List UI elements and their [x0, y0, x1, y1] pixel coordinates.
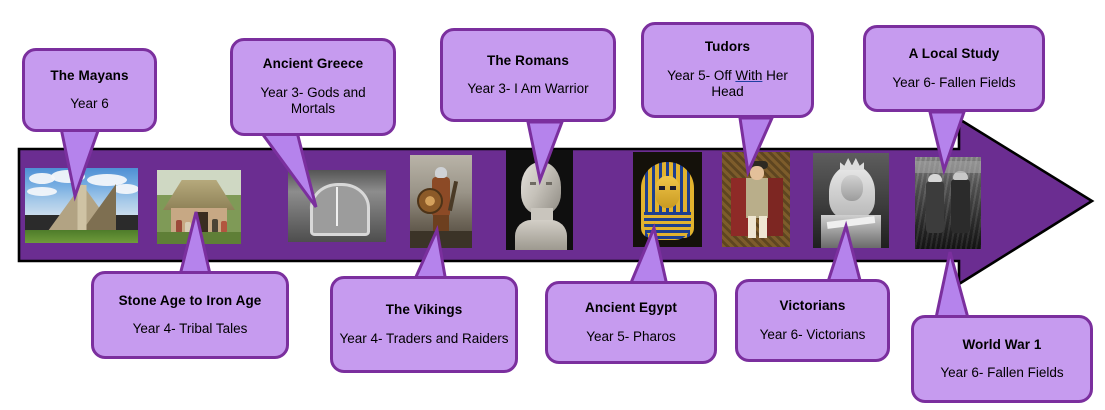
photo-bust-eye [546, 182, 552, 185]
photo-pyramid-shadow [82, 184, 116, 231]
callout-title: The Vikings [386, 302, 463, 318]
photo-rock [410, 231, 472, 248]
photo-legs [759, 216, 767, 238]
tutankhamun-mask-photo [633, 152, 702, 247]
photo-bust-head [521, 162, 561, 214]
timeline-diagram: The Mayans Year 6 Ancient Greece Year 3-… [0, 0, 1105, 410]
callout-title: Stone Age to Iron Age [119, 293, 262, 309]
callout-world-war-1[interactable]: World War 1 Year 6- Fallen Fields [911, 315, 1093, 403]
callout-ancient-greece[interactable]: Ancient Greece Year 3- Gods and Mortals [230, 38, 396, 136]
photo-mask-eye [659, 186, 665, 190]
photo-mask-eye [670, 186, 676, 190]
callout-subtitle: Year 6- Fallen Fields [934, 365, 1069, 381]
photo-doorway [195, 212, 208, 232]
callout-subtitle: Year 6- Fallen Fields [886, 75, 1021, 91]
iron-age-roundhouse-photo [157, 170, 241, 244]
callout-romans[interactable]: The Romans Year 3- I Am Warrior [440, 28, 616, 122]
callout-title: Victorians [779, 298, 845, 314]
callout-subtitle: Year 5- Off With Her Head [644, 68, 811, 101]
photo-viking-helmet [435, 167, 447, 178]
photo-grass [157, 232, 241, 244]
photo-figure [212, 219, 218, 233]
photo-figure [176, 220, 182, 233]
callout-title: Ancient Egypt [585, 300, 677, 316]
callout-subtitle: Year 5- Pharos [580, 329, 682, 345]
callout-title: Tudors [705, 39, 750, 55]
photo-track-spine [336, 187, 338, 226]
henry-viii-portrait [722, 152, 790, 247]
photo-face [841, 175, 863, 201]
callout-victorians[interactable]: Victorians Year 6- Victorians [735, 279, 890, 362]
roman-bust-photo [506, 150, 573, 250]
callout-subtitle: Year 4- Traders and Raiders [333, 331, 514, 347]
photo-mask-collar [644, 212, 691, 240]
callout-title: The Mayans [50, 68, 128, 84]
photo-helmet [928, 174, 942, 182]
callout-vikings[interactable]: The Vikings Year 4- Traders and Raiders [330, 276, 518, 373]
photo-pyramid-stair [77, 185, 86, 231]
tail-world-war-1 [936, 252, 968, 318]
photo-bust-eye [530, 182, 536, 185]
callout-title: World War 1 [962, 337, 1041, 353]
photo-soldier [951, 179, 970, 233]
photo-mask-face [655, 176, 680, 208]
callout-a-local-study[interactable]: A Local Study Year 6- Fallen Fields [863, 25, 1045, 112]
callout-stone-age-to-iron-age[interactable]: Stone Age to Iron Age Year 4- Tribal Tal… [91, 271, 289, 359]
callout-mayans[interactable]: The Mayans Year 6 [22, 48, 157, 132]
callout-subtitle: Year 6- Victorians [754, 327, 872, 343]
callout-subtitle: Year 3- Gods and Mortals [233, 85, 393, 118]
photo-cloud [51, 170, 85, 183]
callout-subtitle: Year 3- I Am Warrior [461, 81, 594, 97]
ww1-soldiers-photo [915, 157, 981, 249]
photo-bust-shoulders [515, 220, 567, 250]
photo-track [310, 183, 371, 237]
callout-title: The Romans [487, 53, 569, 69]
photo-grass [25, 230, 138, 243]
callout-title: A Local Study [909, 46, 1000, 62]
callout-subtitle: Year 4- Tribal Tales [127, 321, 254, 337]
photo-face [750, 166, 764, 180]
callout-title: Ancient Greece [263, 56, 363, 72]
queen-victoria-photo [813, 153, 889, 248]
callout-subtitle: Year 6 [64, 96, 115, 112]
viking-warrior-image [410, 155, 472, 248]
photo-cloud [113, 184, 138, 194]
photo-robe [766, 178, 783, 236]
photo-soldier [926, 181, 944, 233]
photo-doublet [746, 178, 768, 218]
callout-tudors[interactable]: Tudors Year 5- Off With Her Head [641, 22, 814, 118]
callout-ancient-egypt[interactable]: Ancient Egypt Year 5- Pharos [545, 281, 717, 364]
photo-viking-shield [417, 188, 443, 214]
mayan-pyramid-photo [25, 168, 138, 243]
photo-trench-wall [915, 161, 981, 173]
greek-stadium-photo [288, 170, 386, 242]
photo-legs [748, 216, 756, 238]
